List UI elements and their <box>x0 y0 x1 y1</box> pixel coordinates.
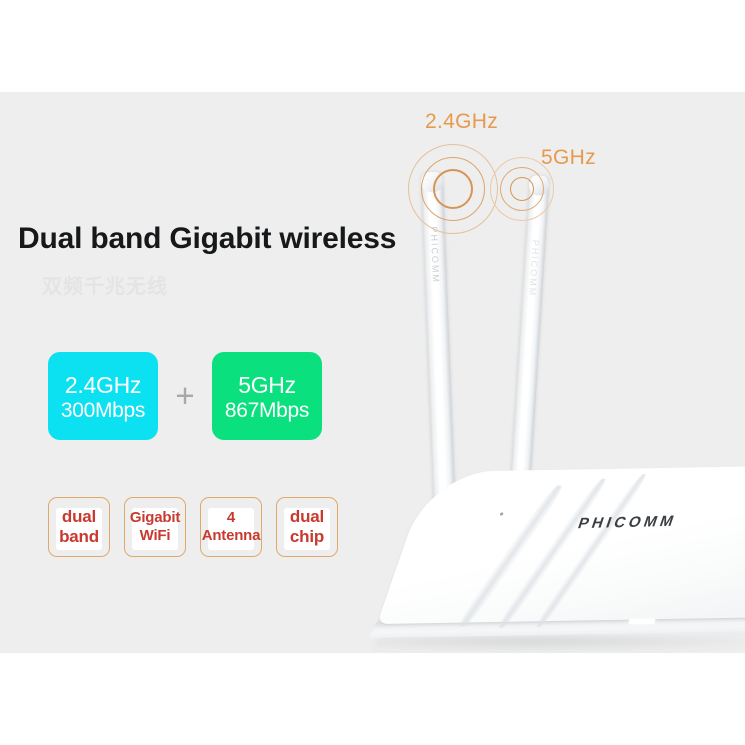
router-screw-dot <box>500 512 504 515</box>
antenna-brand-label-2-4ghz: PHICOMM <box>429 226 441 284</box>
router-body: PHICOMM <box>355 466 745 653</box>
product-panel: PHICOMM PHICOMM 2.4GHz 5GHz <box>0 92 745 653</box>
router-edge <box>373 601 745 630</box>
antenna-brand-label-5ghz: PHICOMM <box>527 239 541 297</box>
antenna-2-4ghz: PHICOMM <box>421 172 456 518</box>
tag-line-2: Antenna <box>202 527 261 545</box>
tag-line-1: 4 <box>227 509 235 527</box>
signal-ring-outer <box>490 157 554 221</box>
router-vent-line <box>494 479 611 628</box>
tag-line-1: Gigabit <box>130 509 180 527</box>
router-led-indicator <box>628 619 656 624</box>
tag-line-1: dual <box>290 507 324 527</box>
badge-rate-label: 867Mbps <box>225 399 309 423</box>
tag-line-2: band <box>59 527 99 547</box>
signal-ring-inner <box>510 177 534 201</box>
tag-line-1: dual <box>62 507 96 527</box>
feature-tag-4-antenna: 4 Antenna <box>200 497 262 557</box>
signal-ring-middle <box>500 167 544 211</box>
feature-tag-group: dual band Gigabit WiFi 4 Antenna dual ch… <box>48 497 352 557</box>
product-banner: PHICOMM PHICOMM 2.4GHz 5GHz <box>0 0 745 745</box>
signal-ring-inner <box>433 169 473 209</box>
router-brand-label: PHICOMM <box>576 513 680 533</box>
tag-line-2: WiFi <box>140 527 171 545</box>
band-label-2-4ghz: 2.4GHz <box>425 110 498 134</box>
band-label-5ghz: 5GHz <box>541 146 596 170</box>
antenna-tip-5ghz <box>528 175 549 196</box>
router-vent-line <box>454 485 568 626</box>
speed-badge-5ghz: 5GHz 867Mbps <box>212 352 322 440</box>
signal-rings-2-4ghz-icon <box>407 143 499 235</box>
antenna-5ghz: PHICOMM <box>509 175 550 506</box>
router-shadow <box>372 636 745 652</box>
ghost-subtitle: 双频千兆无线 <box>42 270 168 299</box>
signal-ring-middle <box>421 157 485 221</box>
feature-tag-gigabit-wifi: Gigabit WiFi <box>124 497 186 557</box>
antenna-tip-2-4ghz <box>421 172 444 193</box>
badge-band-label: 5GHz <box>238 373 296 399</box>
speed-badge-group: 2.4GHz 300Mbps + 5GHz 867Mbps <box>48 352 322 440</box>
router-top-surface <box>377 465 745 624</box>
badge-band-label: 2.4GHz <box>65 373 141 399</box>
router-vent-line <box>532 474 651 627</box>
speed-badge-2-4ghz: 2.4GHz 300Mbps <box>48 352 158 440</box>
signal-ring-outer <box>408 144 498 234</box>
tag-line-2: chip <box>290 527 324 547</box>
plus-separator-icon: + <box>158 379 212 412</box>
badge-rate-label: 300Mbps <box>61 399 145 423</box>
page-title: Dual band Gigabit wireless <box>18 222 396 256</box>
feature-tag-dual-band: dual band <box>48 497 110 557</box>
signal-rings-5ghz-icon <box>489 156 555 222</box>
router-base <box>369 617 745 638</box>
feature-tag-dual-chip: dual chip <box>276 497 338 557</box>
